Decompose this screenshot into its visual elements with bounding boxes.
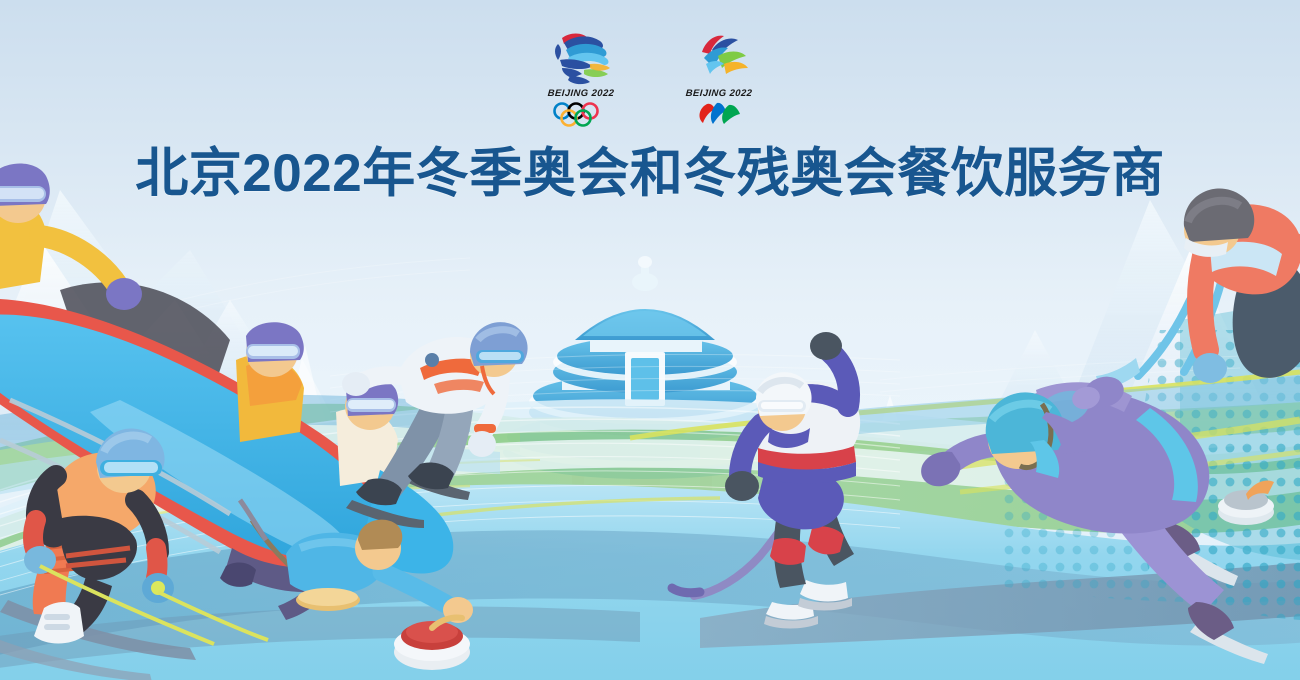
paralympic-wordmark: BEIJING 2022 <box>676 88 763 99</box>
speed-skater-purple <box>921 382 1268 664</box>
flying-high-emblem <box>682 30 756 88</box>
page-title: 北京2022年冬季奥会和冬残奥会餐饮服务商 <box>0 143 1300 204</box>
ice-hockey-player <box>672 332 860 629</box>
curling-stone-orange <box>1218 481 1274 526</box>
winter-dream-emblem <box>544 30 618 88</box>
olympic-banner: BEIJING 2022 BEIJING 2022 <box>0 0 1300 680</box>
olympic-rings <box>550 102 612 128</box>
curling-stone-red <box>394 617 470 670</box>
beijing-2022-olympic-logo: BEIJING 2022 <box>538 30 624 130</box>
beijing-2022-paralympic-logo: BEIJING 2022 <box>676 30 762 130</box>
paralympic-agitos <box>695 100 743 126</box>
olympic-wordmark: BEIJING 2022 <box>538 88 625 99</box>
logo-row: BEIJING 2022 BEIJING 2022 <box>0 30 1300 130</box>
